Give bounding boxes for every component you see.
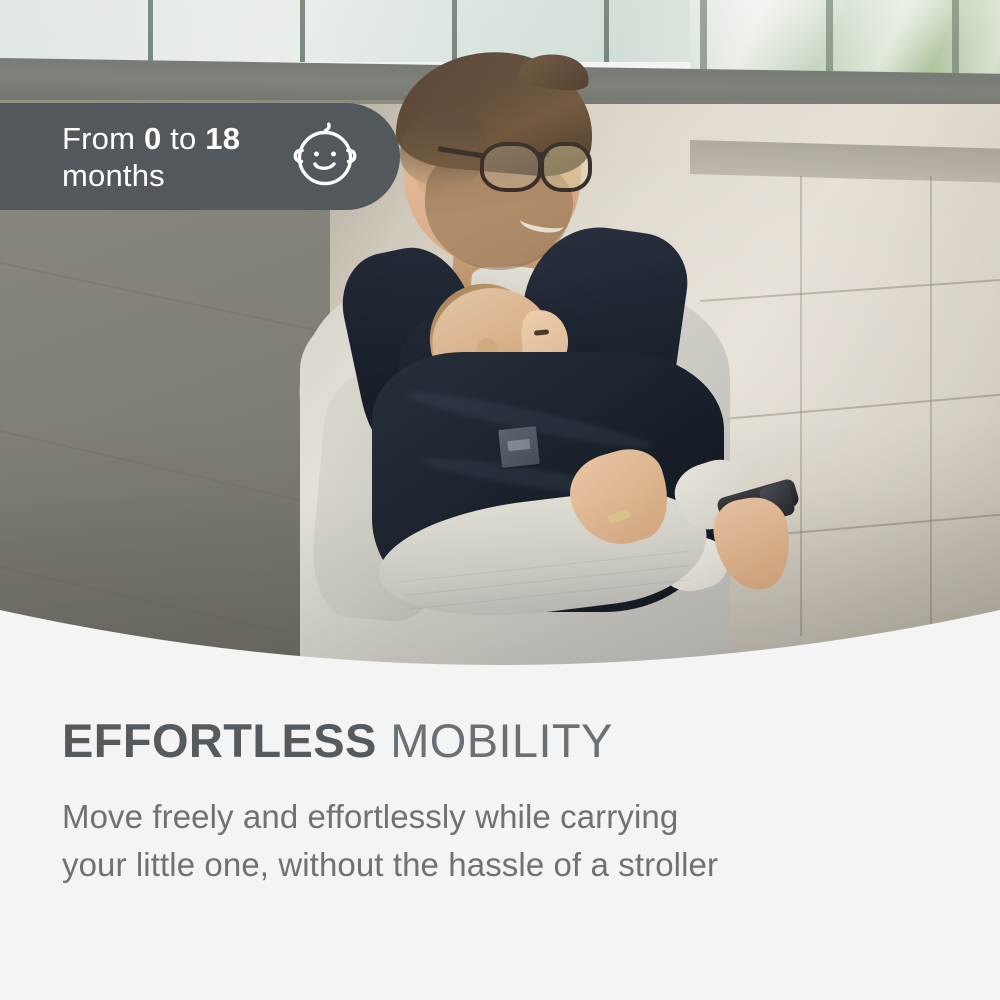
- glasses-lens-right: [540, 142, 592, 192]
- badge-middle: to: [161, 121, 205, 156]
- badge-from-value: 0: [144, 121, 161, 156]
- headline: EFFORTLESS MOBILITY: [62, 713, 613, 769]
- headline-strong: EFFORTLESS: [62, 714, 377, 767]
- subcopy-line-2: your little one, without the hassle of a…: [62, 846, 718, 883]
- badge-suffix: months: [62, 158, 165, 193]
- subcopy: Move freely and effortlessly while carry…: [62, 793, 932, 889]
- glasses-lens-left: [480, 142, 542, 192]
- baby-face-icon: [288, 120, 362, 194]
- badge-to-value: 18: [205, 121, 240, 156]
- subcopy-line-1: Move freely and effortlessly while carry…: [62, 798, 678, 835]
- section-divider-curve: [0, 560, 1000, 690]
- brand-label-patch: [498, 426, 540, 468]
- age-range-label: From 0 to 18 months: [62, 120, 284, 194]
- badge-prefix: From: [62, 121, 144, 156]
- text-section: EFFORTLESS MOBILITY Move freely and effo…: [0, 680, 1000, 1000]
- headline-light: MOBILITY: [377, 714, 613, 767]
- age-range-badge: From 0 to 18 months: [0, 103, 400, 210]
